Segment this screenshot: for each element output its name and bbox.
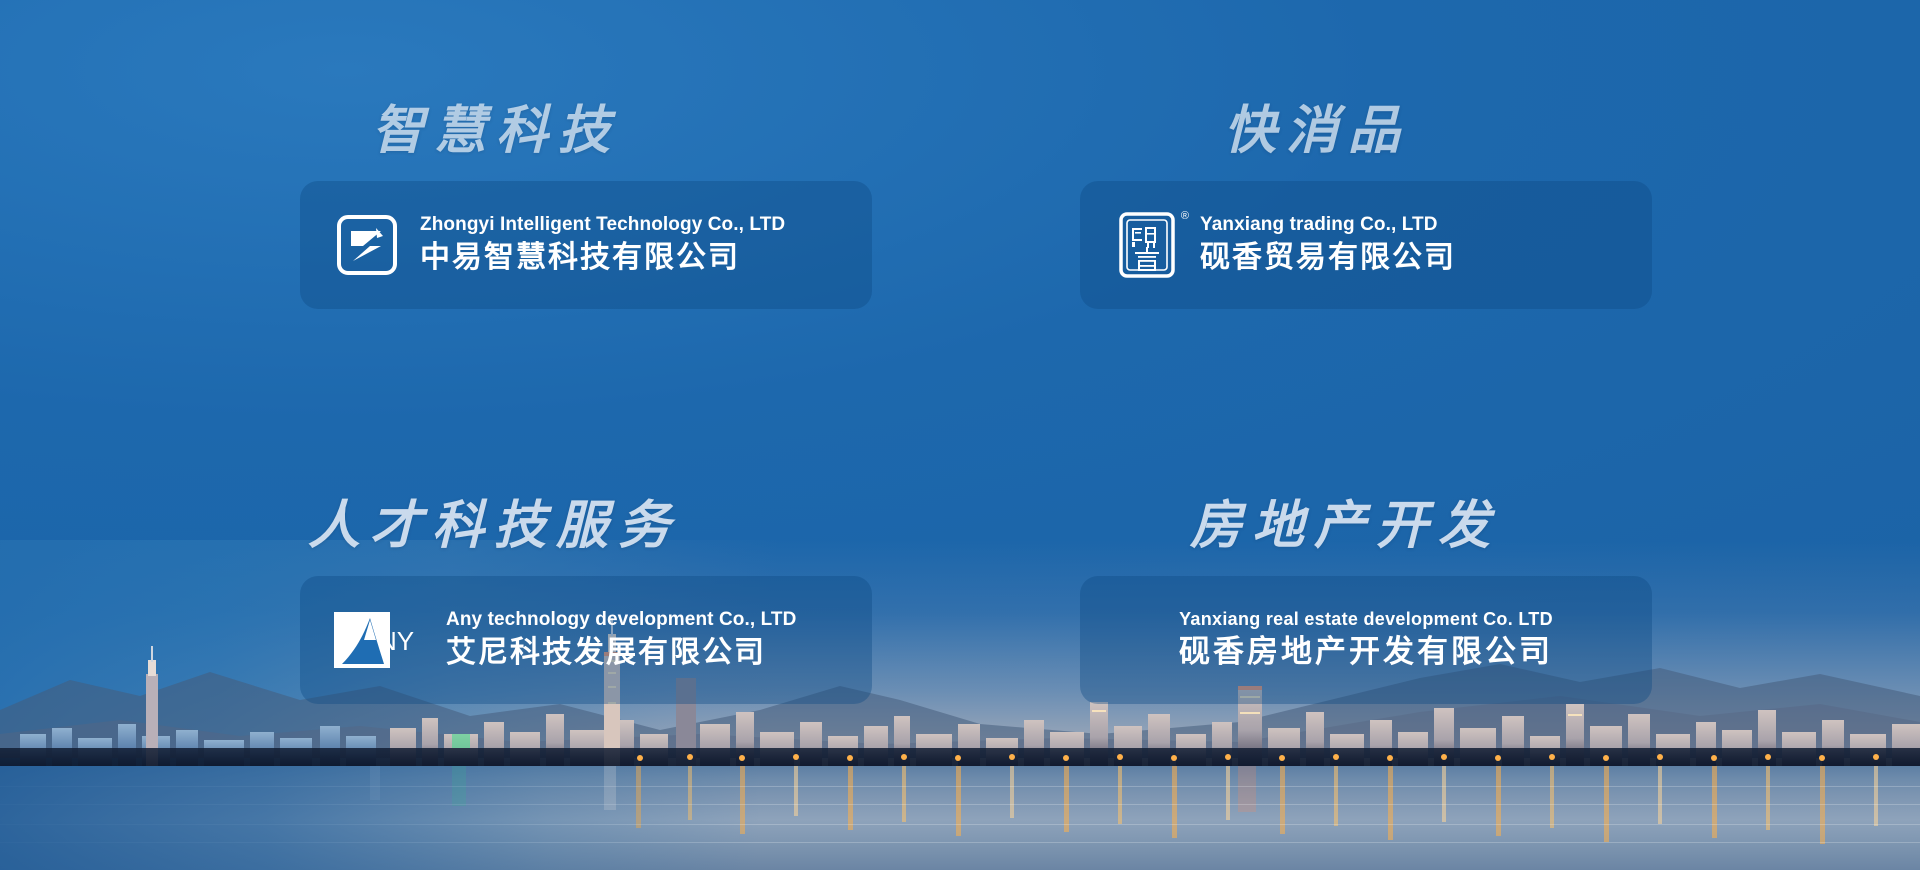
segment-smart-technology: 智慧科技 Zhongyi Intelligent Technology Co.,… bbox=[300, 105, 872, 309]
yanxiang-seal-logo-icon: ® bbox=[1114, 212, 1180, 278]
company-name-cn: 艾尼科技发展有限公司 bbox=[446, 634, 796, 672]
segment-heading: 房地产开发 bbox=[1190, 500, 1652, 552]
company-card-zhongyi[interactable]: Zhongyi Intelligent Technology Co., LTD … bbox=[300, 181, 872, 309]
segment-heading: 智慧科技 bbox=[372, 105, 872, 157]
company-name-en: Yanxiang real estate development Co. LTD bbox=[1179, 608, 1553, 631]
company-name-cn: 中易智慧科技有限公司 bbox=[420, 239, 785, 277]
zhongyi-logo-icon bbox=[334, 212, 400, 278]
company-name-en: Any technology development Co., LTD bbox=[446, 608, 796, 632]
company-names: Yanxiang trading Co., LTD 砚香贸易有限公司 bbox=[1200, 213, 1456, 276]
segment-talent-services: 人才科技服务 NY Any technology development Co.… bbox=[300, 500, 872, 704]
company-name-cn: 砚香贸易有限公司 bbox=[1200, 239, 1456, 277]
company-card-yanxiang-trading[interactable]: ® Yanxiang trading Co., LTD 砚香贸易有限公司 bbox=[1080, 181, 1652, 309]
svg-text:NY: NY bbox=[378, 626, 414, 656]
company-names: Zhongyi Intelligent Technology Co., LTD … bbox=[420, 213, 785, 276]
company-name-en: Zhongyi Intelligent Technology Co., LTD bbox=[420, 213, 785, 237]
hero-banner: 智慧科技 Zhongyi Intelligent Technology Co.,… bbox=[0, 0, 1920, 870]
segment-heading: 人才科技服务 bbox=[308, 500, 872, 552]
segment-real-estate: 房地产开发 Yanxiang real estate development C… bbox=[1080, 500, 1652, 704]
company-names: Any technology development Co., LTD 艾尼科技… bbox=[446, 608, 796, 671]
segment-heading: 快消品 bbox=[1224, 105, 1652, 157]
segment-fmcg: 快消品 bbox=[1080, 105, 1652, 309]
any-logo-icon: NY bbox=[334, 607, 426, 673]
company-name-cn: 砚香房地产开发有限公司 bbox=[1179, 633, 1553, 672]
company-names: Yanxiang real estate development Co. LTD… bbox=[1179, 608, 1553, 671]
company-card-any[interactable]: NY Any technology development Co., LTD 艾… bbox=[300, 576, 872, 704]
business-segments-grid: 智慧科技 Zhongyi Intelligent Technology Co.,… bbox=[0, 0, 1920, 870]
registered-mark-icon: ® bbox=[1181, 210, 1189, 222]
company-card-yanxiang-real-estate[interactable]: Yanxiang real estate development Co. LTD… bbox=[1080, 576, 1652, 704]
company-name-en: Yanxiang trading Co., LTD bbox=[1200, 213, 1456, 237]
